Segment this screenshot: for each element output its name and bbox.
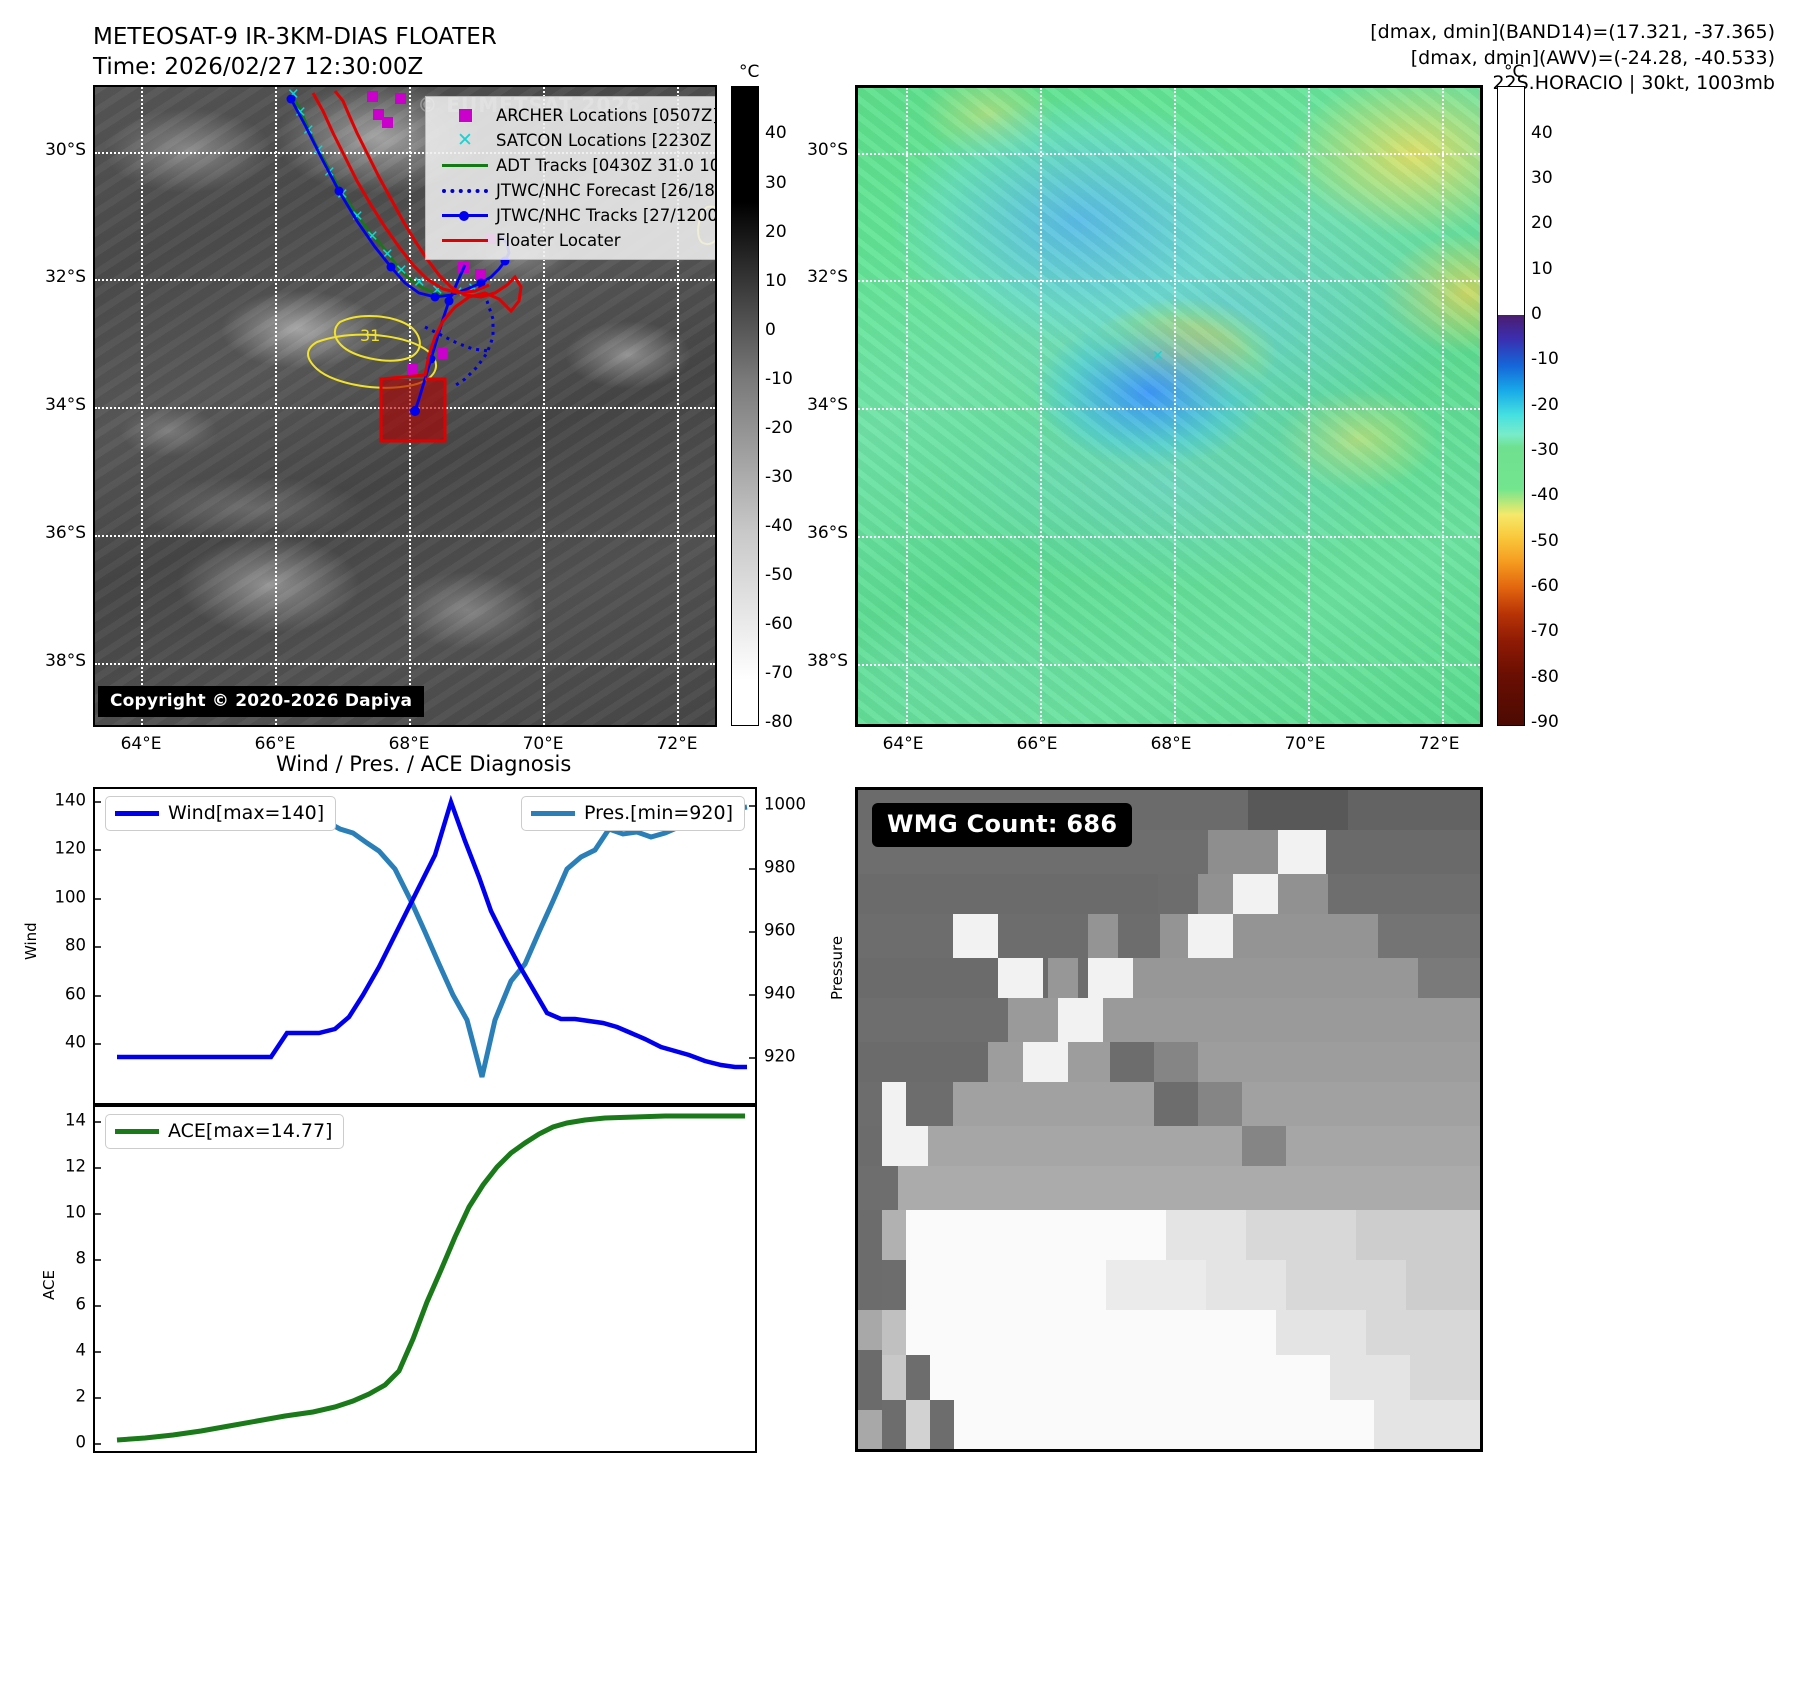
tr-cb-tick-13: -90 [1531,712,1559,732]
tl-xtick-3: 70°E [523,734,564,754]
tr-cb-tick-9: -50 [1531,531,1559,551]
ir-panel-legend[interactable]: ARCHER Locations [0507Z] ✕ SATCON Locati… [425,96,717,260]
tl-xtick-2: 68°E [389,734,430,754]
pres-ytick-1000: 1000 [764,795,806,814]
legend-item-satcon[interactable]: ✕ SATCON Locations [2230Z 39 1000] [434,128,717,153]
pres-ytick-980: 980 [764,858,796,877]
ace-ytick-4: 4 [76,1341,87,1360]
copyright-badge: Copyright © 2020-2026 Dapiya [98,686,424,717]
ace-line-swatch-icon [115,1129,159,1134]
wmg-grayscale-mosaic [858,790,1480,1449]
awv-center-marker: ✕ [858,88,1483,727]
legend-label-floater: Floater Locater [496,228,621,253]
wind-ytick-80: 80 [65,936,86,955]
tr-colorbar-unit: °C [1504,62,1524,82]
wind-pressure-lines [95,789,755,1103]
tr-cb-tick-8: -40 [1531,485,1559,505]
tr-ytick-1: 32°S [807,267,848,287]
tr-cb-tick-2: 20 [1531,213,1553,233]
wind-ytick-120: 120 [55,839,87,858]
legend-label-jtwc-tracks: JTWC/NHC Tracks [27/1200Z] [496,203,717,228]
tl-ytick-0: 30°S [45,140,86,160]
tr-cb-tick-12: -80 [1531,667,1559,687]
tl-ytick-1: 32°S [45,267,86,287]
legend-label-archer: ARCHER Locations [0507Z] [496,103,717,128]
ace-legend-label: ACE[max=14.77] [168,1120,332,1142]
ace-ytick-0: 0 [76,1433,87,1452]
tr-ytick-4: 38°S [807,651,848,671]
tr-cb-tick-4: 0 [1531,304,1542,324]
legend-label-jtwc-forecast: JTWC/NHC Forecast [26/1800Z] [496,178,717,203]
tl-ytick-3: 36°S [45,523,86,543]
pres-ytick-940: 940 [764,984,796,1003]
ir-satellite-image-panel[interactable]: © EUMETSAT 2026 31 ✕✕✕ ✕✕✕ ✕✕✕ ✕✕✕ ✕✕ [93,85,717,727]
awv-enhanced-image-panel[interactable]: ✕ [855,85,1483,727]
pres-ytick-960: 960 [764,921,796,940]
tl-ytick-2: 34°S [45,395,86,415]
wmg-count-badge: WMG Count: 686 [872,803,1132,847]
svg-text:✕: ✕ [1152,348,1164,364]
svg-text:31: 31 [360,326,380,345]
diagnosis-chart-title: Wind / Pres. / ACE Diagnosis [276,752,571,776]
tr-cb-tick-3: 10 [1531,259,1553,279]
wind-ytick-40: 40 [65,1033,86,1052]
tl-ytick-4: 38°S [45,651,86,671]
tr-cb-tick-6: -20 [1531,395,1559,415]
wind-ytick-140: 140 [55,791,87,810]
red-line-icon [434,239,496,242]
tl-xtick-4: 72°E [657,734,698,754]
tr-longitude-axis: 64°E 66°E 68°E 70°E 72°E [855,734,1483,760]
wind-line-swatch-icon [115,811,159,816]
wind-pressure-chart[interactable]: Wind[max=140] Pres.[min=920] [93,787,757,1105]
ace-ytick-8: 8 [76,1249,87,1268]
legend-item-adt-tracks[interactable]: ADT Tracks [0430Z 31.0 1001.8] [434,153,717,178]
tr-cb-tick-10: -60 [1531,576,1559,596]
legend-item-jtwc-forecast[interactable]: JTWC/NHC Forecast [26/1800Z] [434,178,717,203]
tr-xtick-4: 72°E [1419,734,1460,754]
green-line-icon [434,164,496,167]
ace-ytick-10: 10 [65,1203,86,1222]
tr-cb-tick-7: -30 [1531,440,1559,460]
tr-cb-tick-11: -70 [1531,621,1559,641]
legend-item-archer[interactable]: ARCHER Locations [0507Z] [434,103,717,128]
top-left-panel-title: METEOSAT-9 IR-3KM-DIAS FLOATER Time: 202… [93,22,713,83]
tr-cb-tick-5: -10 [1531,349,1559,369]
pressure-y-axis-ticks: 1000 980 960 940 920 [764,787,820,1105]
tl-xtick-1: 66°E [255,734,296,754]
ace-ytick-14: 14 [65,1111,86,1130]
legend-label-satcon: SATCON Locations [2230Z 39 1000] [496,128,717,153]
tl-xtick-0: 64°E [121,734,162,754]
legend-item-floater-locater[interactable]: Floater Locater [434,228,717,253]
tr-cb-tick-0: 40 [1531,123,1553,143]
tl-cb-tick-4: 0 [765,320,776,340]
tr-xtick-2: 68°E [1151,734,1192,754]
pressure-line-swatch-icon [531,811,575,816]
tr-xtick-1: 66°E [1017,734,1058,754]
blue-line-dot-icon [434,214,496,217]
tr-ytick-0: 30°S [807,140,848,160]
ace-legend[interactable]: ACE[max=14.77] [105,1114,344,1149]
tl-latitude-axis: 30°S 32°S 34°S 36°S 38°S [20,85,86,727]
cyan-x-icon: ✕ [434,131,496,150]
ace-line [95,1107,755,1451]
svg-text:✕: ✕ [395,261,408,279]
magenta-square-icon [434,109,496,122]
ace-y-axis-ticks: 14 12 10 8 6 4 2 0 [40,1105,86,1453]
ace-ytick-12: 12 [65,1157,86,1176]
tr-xtick-0: 64°E [883,734,924,754]
wind-ytick-60: 60 [65,985,86,1004]
pressure-axis-label: Pressure [828,936,846,1000]
wind-ytick-100: 100 [55,888,87,907]
wmg-count-panel[interactable]: WMG Count: 686 [855,787,1483,1452]
tr-colorbar-ticks: 40 30 20 10 0 -10 -20 -30 -40 -50 -60 -7… [1497,86,1617,726]
tr-ytick-3: 36°S [807,523,848,543]
ace-chart[interactable]: ACE[max=14.77] [93,1105,757,1453]
pressure-legend[interactable]: Pres.[min=920] [521,796,745,831]
blue-dotted-line-icon [434,189,496,193]
pres-ytick-920: 920 [764,1047,796,1066]
tl-colorbar-unit: °C [739,62,759,82]
ace-ytick-6: 6 [76,1295,87,1314]
pressure-legend-label: Pres.[min=920] [584,802,733,824]
legend-item-jtwc-tracks[interactable]: JTWC/NHC Tracks [27/1200Z] [434,203,717,228]
legend-label-adt: ADT Tracks [0430Z 31.0 1001.8] [496,153,717,178]
tr-ytick-2: 34°S [807,395,848,415]
wind-legend[interactable]: Wind[max=140] [105,796,336,831]
tr-latitude-axis: 30°S 32°S 34°S 36°S 38°S [782,85,848,727]
tr-xtick-3: 70°E [1285,734,1326,754]
wind-legend-label: Wind[max=140] [168,802,324,824]
wind-y-axis-ticks: 140 120 100 80 60 40 [30,787,86,1105]
tr-cb-tick-1: 30 [1531,168,1553,188]
ace-ytick-2: 2 [76,1387,87,1406]
